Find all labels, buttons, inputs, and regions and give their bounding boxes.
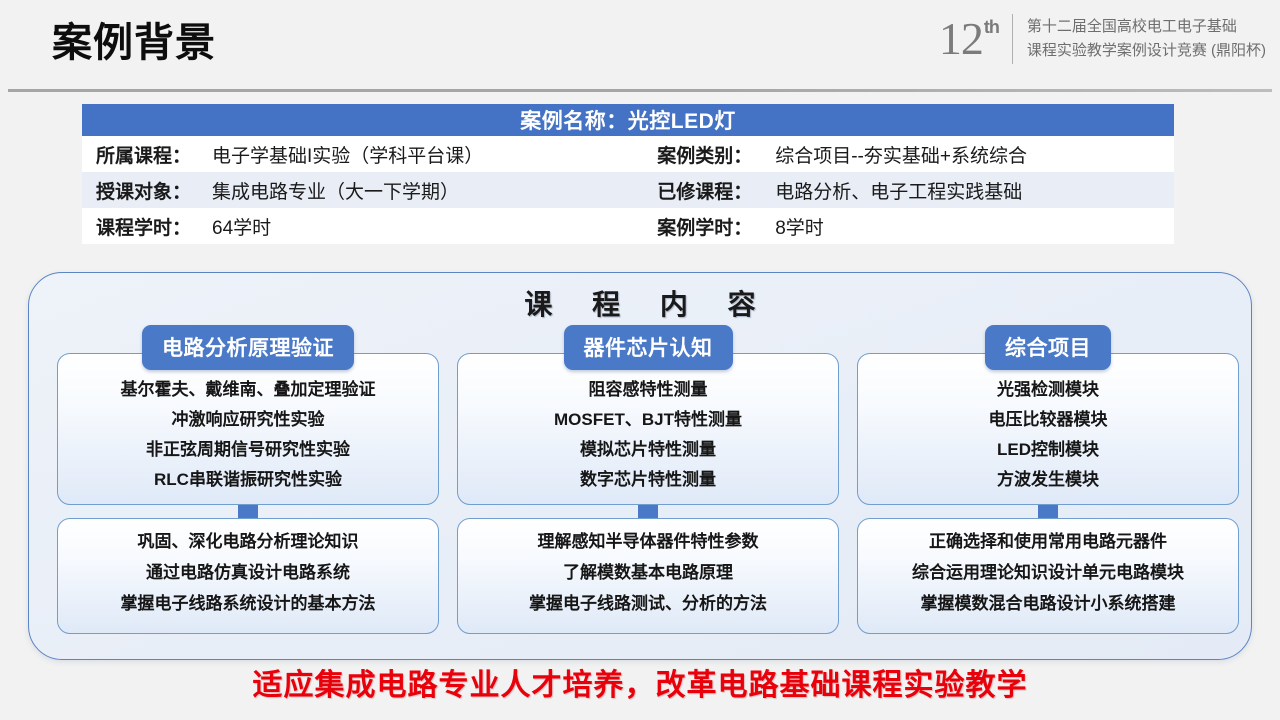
content-column-comprehensive-project: 综合项目 光强检测模块 电压比较器模块 LED控制模块 方波发生模块 正确选择和… (857, 325, 1239, 634)
course-content-panel: 课 程 内 容 电路分析原理验证 基尔霍夫、戴维南、叠加定理验证 冲激响应研究性… (28, 272, 1252, 660)
row-label-course-hours: 课程学时： (82, 208, 202, 244)
goals-box-1: 巩固、深化电路分析理论知识 通过电路仿真设计电路系统 掌握电子线路系统设计的基本… (57, 518, 439, 634)
topics-box-3: 光强检测模块 电压比较器模块 LED控制模块 方波发生模块 (857, 353, 1239, 505)
goal-item: 综合运用理论知识设计单元电路模块 (868, 563, 1228, 582)
topic-item: MOSFET、BJT特性测量 (468, 410, 828, 429)
row-value-course: 电子学基础I实验（学科平台课） (202, 136, 641, 172)
row-label-prereq: 已修课程： (641, 172, 765, 208)
table-row: 所属课程： 电子学基础I实验（学科平台课） 案例类别： 综合项目--夯实基础+系… (82, 136, 1174, 172)
topic-item: RLC串联谐振研究性实验 (68, 470, 428, 489)
topics-box-1: 基尔霍夫、戴维南、叠加定理验证 冲激响应研究性实验 非正弦周期信号研究性实验 R… (57, 353, 439, 505)
case-info-table: 案例名称：光控LED灯 所属课程： 电子学基础I实验（学科平台课） 案例类别： … (82, 104, 1174, 244)
row-value-case-hours: 8学时 (765, 208, 1174, 244)
goal-item: 掌握电子线路测试、分析的方法 (468, 594, 828, 613)
case-name-banner: 案例名称：光控LED灯 (82, 104, 1174, 136)
logo-text-block: 第十二届全国高校电工电子基础 课程实验教学案例设计竞赛 (鼎阳杯) (1027, 17, 1266, 61)
table-row: 授课对象： 集成电路专业（大一下学期） 已修课程： 电路分析、电子工程实践基础 (82, 172, 1174, 208)
logo-ordinal-suffix: th (984, 18, 999, 36)
topic-item: 光强检测模块 (868, 380, 1228, 399)
row-value-audience: 集成电路专业（大一下学期） (202, 172, 641, 208)
topic-item: 数字芯片特性测量 (468, 470, 828, 489)
content-column-circuit-analysis: 电路分析原理验证 基尔霍夫、戴维南、叠加定理验证 冲激响应研究性实验 非正弦周期… (57, 325, 439, 634)
goal-item: 掌握电子线路系统设计的基本方法 (68, 594, 428, 613)
goal-item: 掌握模数混合电路设计小系统搭建 (868, 594, 1228, 613)
category-chip-3[interactable]: 综合项目 (985, 325, 1111, 370)
goal-item: 通过电路仿真设计电路系统 (68, 563, 428, 582)
topic-item: 方波发生模块 (868, 470, 1228, 489)
topic-item: LED控制模块 (868, 440, 1228, 459)
logo-divider (1012, 14, 1013, 64)
category-chip-1[interactable]: 电路分析原理验证 (142, 325, 354, 370)
topic-item: 电压比较器模块 (868, 410, 1228, 429)
slide-header: 案例背景 12th 第十二届全国高校电工电子基础 课程实验教学案例设计竞赛 (鼎… (0, 0, 1280, 92)
row-value-prereq: 电路分析、电子工程实践基础 (765, 172, 1174, 208)
table-row: 课程学时： 64学时 案例学时： 8学时 (82, 208, 1174, 244)
logo-line-1: 第十二届全国高校电工电子基础 (1027, 17, 1266, 37)
goal-item: 了解模数基本电路原理 (468, 563, 828, 582)
page-title: 案例背景 (52, 16, 216, 70)
goal-item: 巩固、深化电路分析理论知识 (68, 532, 428, 551)
goal-item: 理解感知半导体器件特性参数 (468, 532, 828, 551)
logo-number-text: 12 (939, 16, 983, 62)
row-label-course: 所属课程： (82, 136, 202, 172)
header-divider (8, 89, 1272, 92)
topic-item: 阻容感特性测量 (468, 380, 828, 399)
row-value-course-hours: 64学时 (202, 208, 641, 244)
row-label-audience: 授课对象： (82, 172, 202, 208)
footer-slogan: 适应集成电路专业人才培养，改革电路基础课程实验教学 (0, 660, 1280, 704)
topic-item: 基尔霍夫、戴维南、叠加定理验证 (68, 380, 428, 399)
competition-logo: 12th 第十二届全国高校电工电子基础 课程实验教学案例设计竞赛 (鼎阳杯) (939, 14, 1266, 64)
goals-box-3: 正确选择和使用常用电路元器件 综合运用理论知识设计单元电路模块 掌握模数混合电路… (857, 518, 1239, 634)
topic-item: 非正弦周期信号研究性实验 (68, 440, 428, 459)
topics-box-2: 阻容感特性测量 MOSFET、BJT特性测量 模拟芯片特性测量 数字芯片特性测量 (457, 353, 839, 505)
content-column-device-chip: 器件芯片认知 阻容感特性测量 MOSFET、BJT特性测量 模拟芯片特性测量 数… (457, 325, 839, 634)
logo-line-2: 课程实验教学案例设计竞赛 (鼎阳杯) (1027, 41, 1266, 61)
logo-edition-number: 12th (939, 16, 998, 62)
row-value-case-type: 综合项目--夯实基础+系统综合 (765, 136, 1174, 172)
panel-title: 课 程 内 容 (29, 283, 1251, 323)
goal-item: 正确选择和使用常用电路元器件 (868, 532, 1228, 551)
topic-item: 冲激响应研究性实验 (68, 410, 428, 429)
category-chip-2[interactable]: 器件芯片认知 (564, 325, 733, 370)
row-label-case-hours: 案例学时： (641, 208, 765, 244)
row-label-case-type: 案例类别： (641, 136, 765, 172)
table-banner-row: 案例名称：光控LED灯 (82, 104, 1174, 136)
slide-root: 案例背景 12th 第十二届全国高校电工电子基础 课程实验教学案例设计竞赛 (鼎… (0, 0, 1280, 720)
goals-box-2: 理解感知半导体器件特性参数 了解模数基本电路原理 掌握电子线路测试、分析的方法 (457, 518, 839, 634)
topic-item: 模拟芯片特性测量 (468, 440, 828, 459)
